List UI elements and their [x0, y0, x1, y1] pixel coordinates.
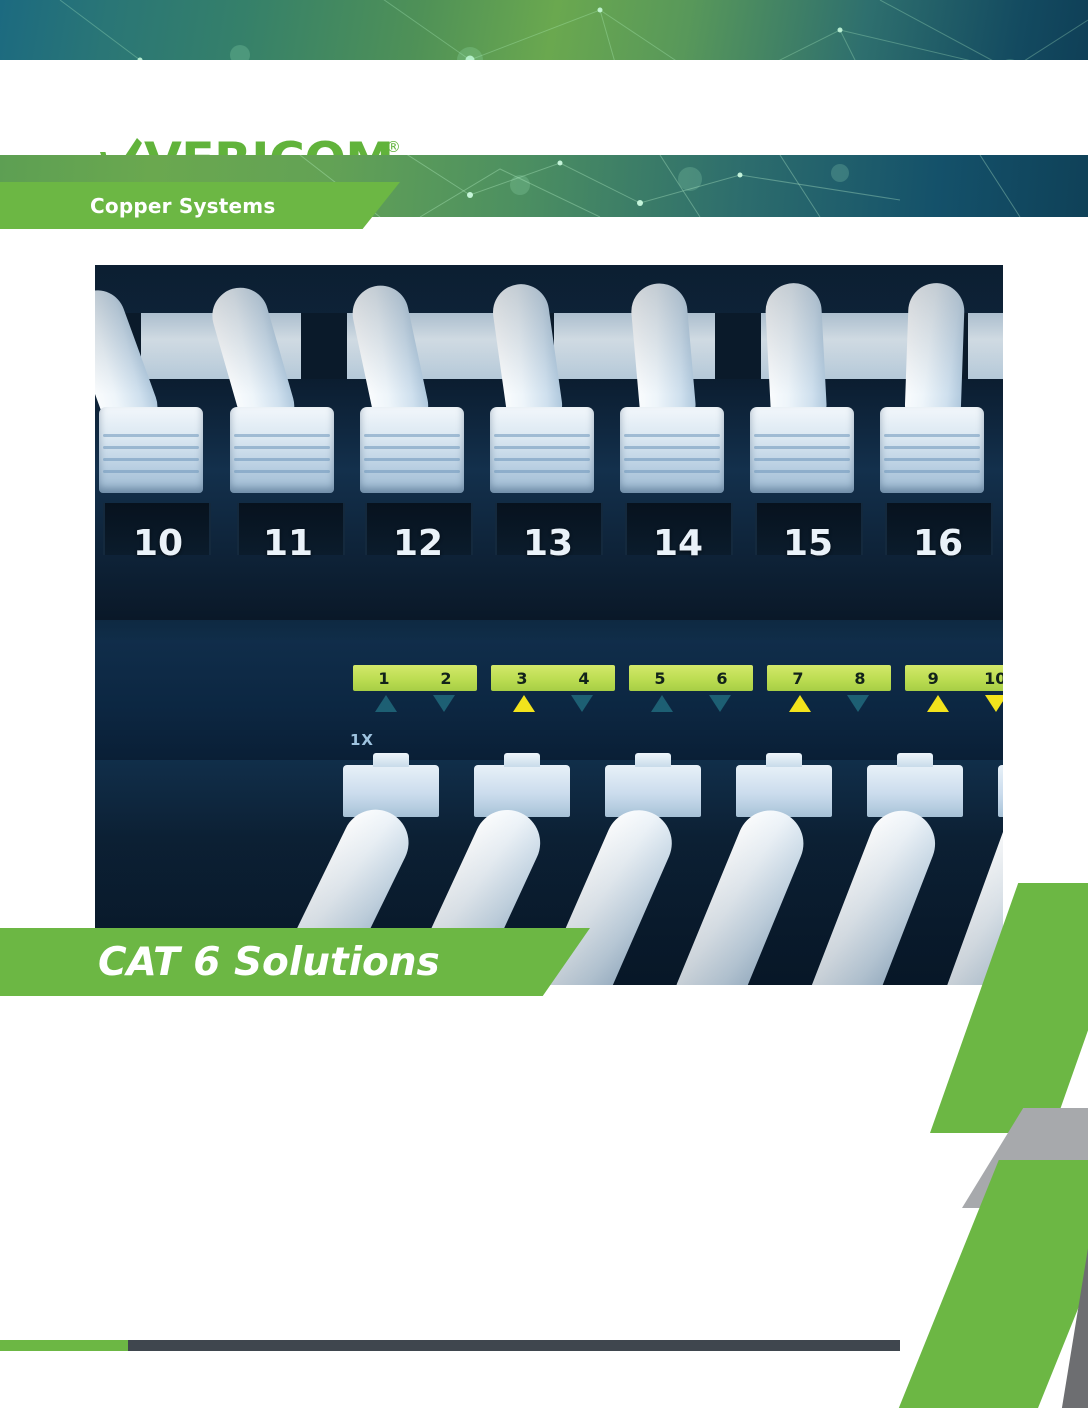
- title-banner-label: CAT 6 Solutions: [98, 940, 440, 985]
- footer-rule-accent: [0, 1340, 128, 1351]
- title-banner-cat6-solutions: CAT 6 Solutions: [0, 928, 590, 996]
- document-page: VERICOM ® The Future Of Technology - Tod…: [0, 0, 1088, 1408]
- decorative-parallelogram-green: [898, 1160, 1088, 1408]
- photo-content: 10111213141516 12345678910 1X: [95, 265, 1003, 985]
- category-banner-copper-systems: Copper Systems: [0, 182, 400, 229]
- logo-header-area: VERICOM ® The Future Of Technology - Tod…: [0, 60, 1088, 156]
- category-banner-label: Copper Systems: [90, 194, 275, 218]
- patch-panel-photo: 10111213141516 12345678910 1X: [95, 265, 1003, 985]
- footer-rule: [128, 1340, 900, 1351]
- photo-vignette: [95, 265, 1003, 985]
